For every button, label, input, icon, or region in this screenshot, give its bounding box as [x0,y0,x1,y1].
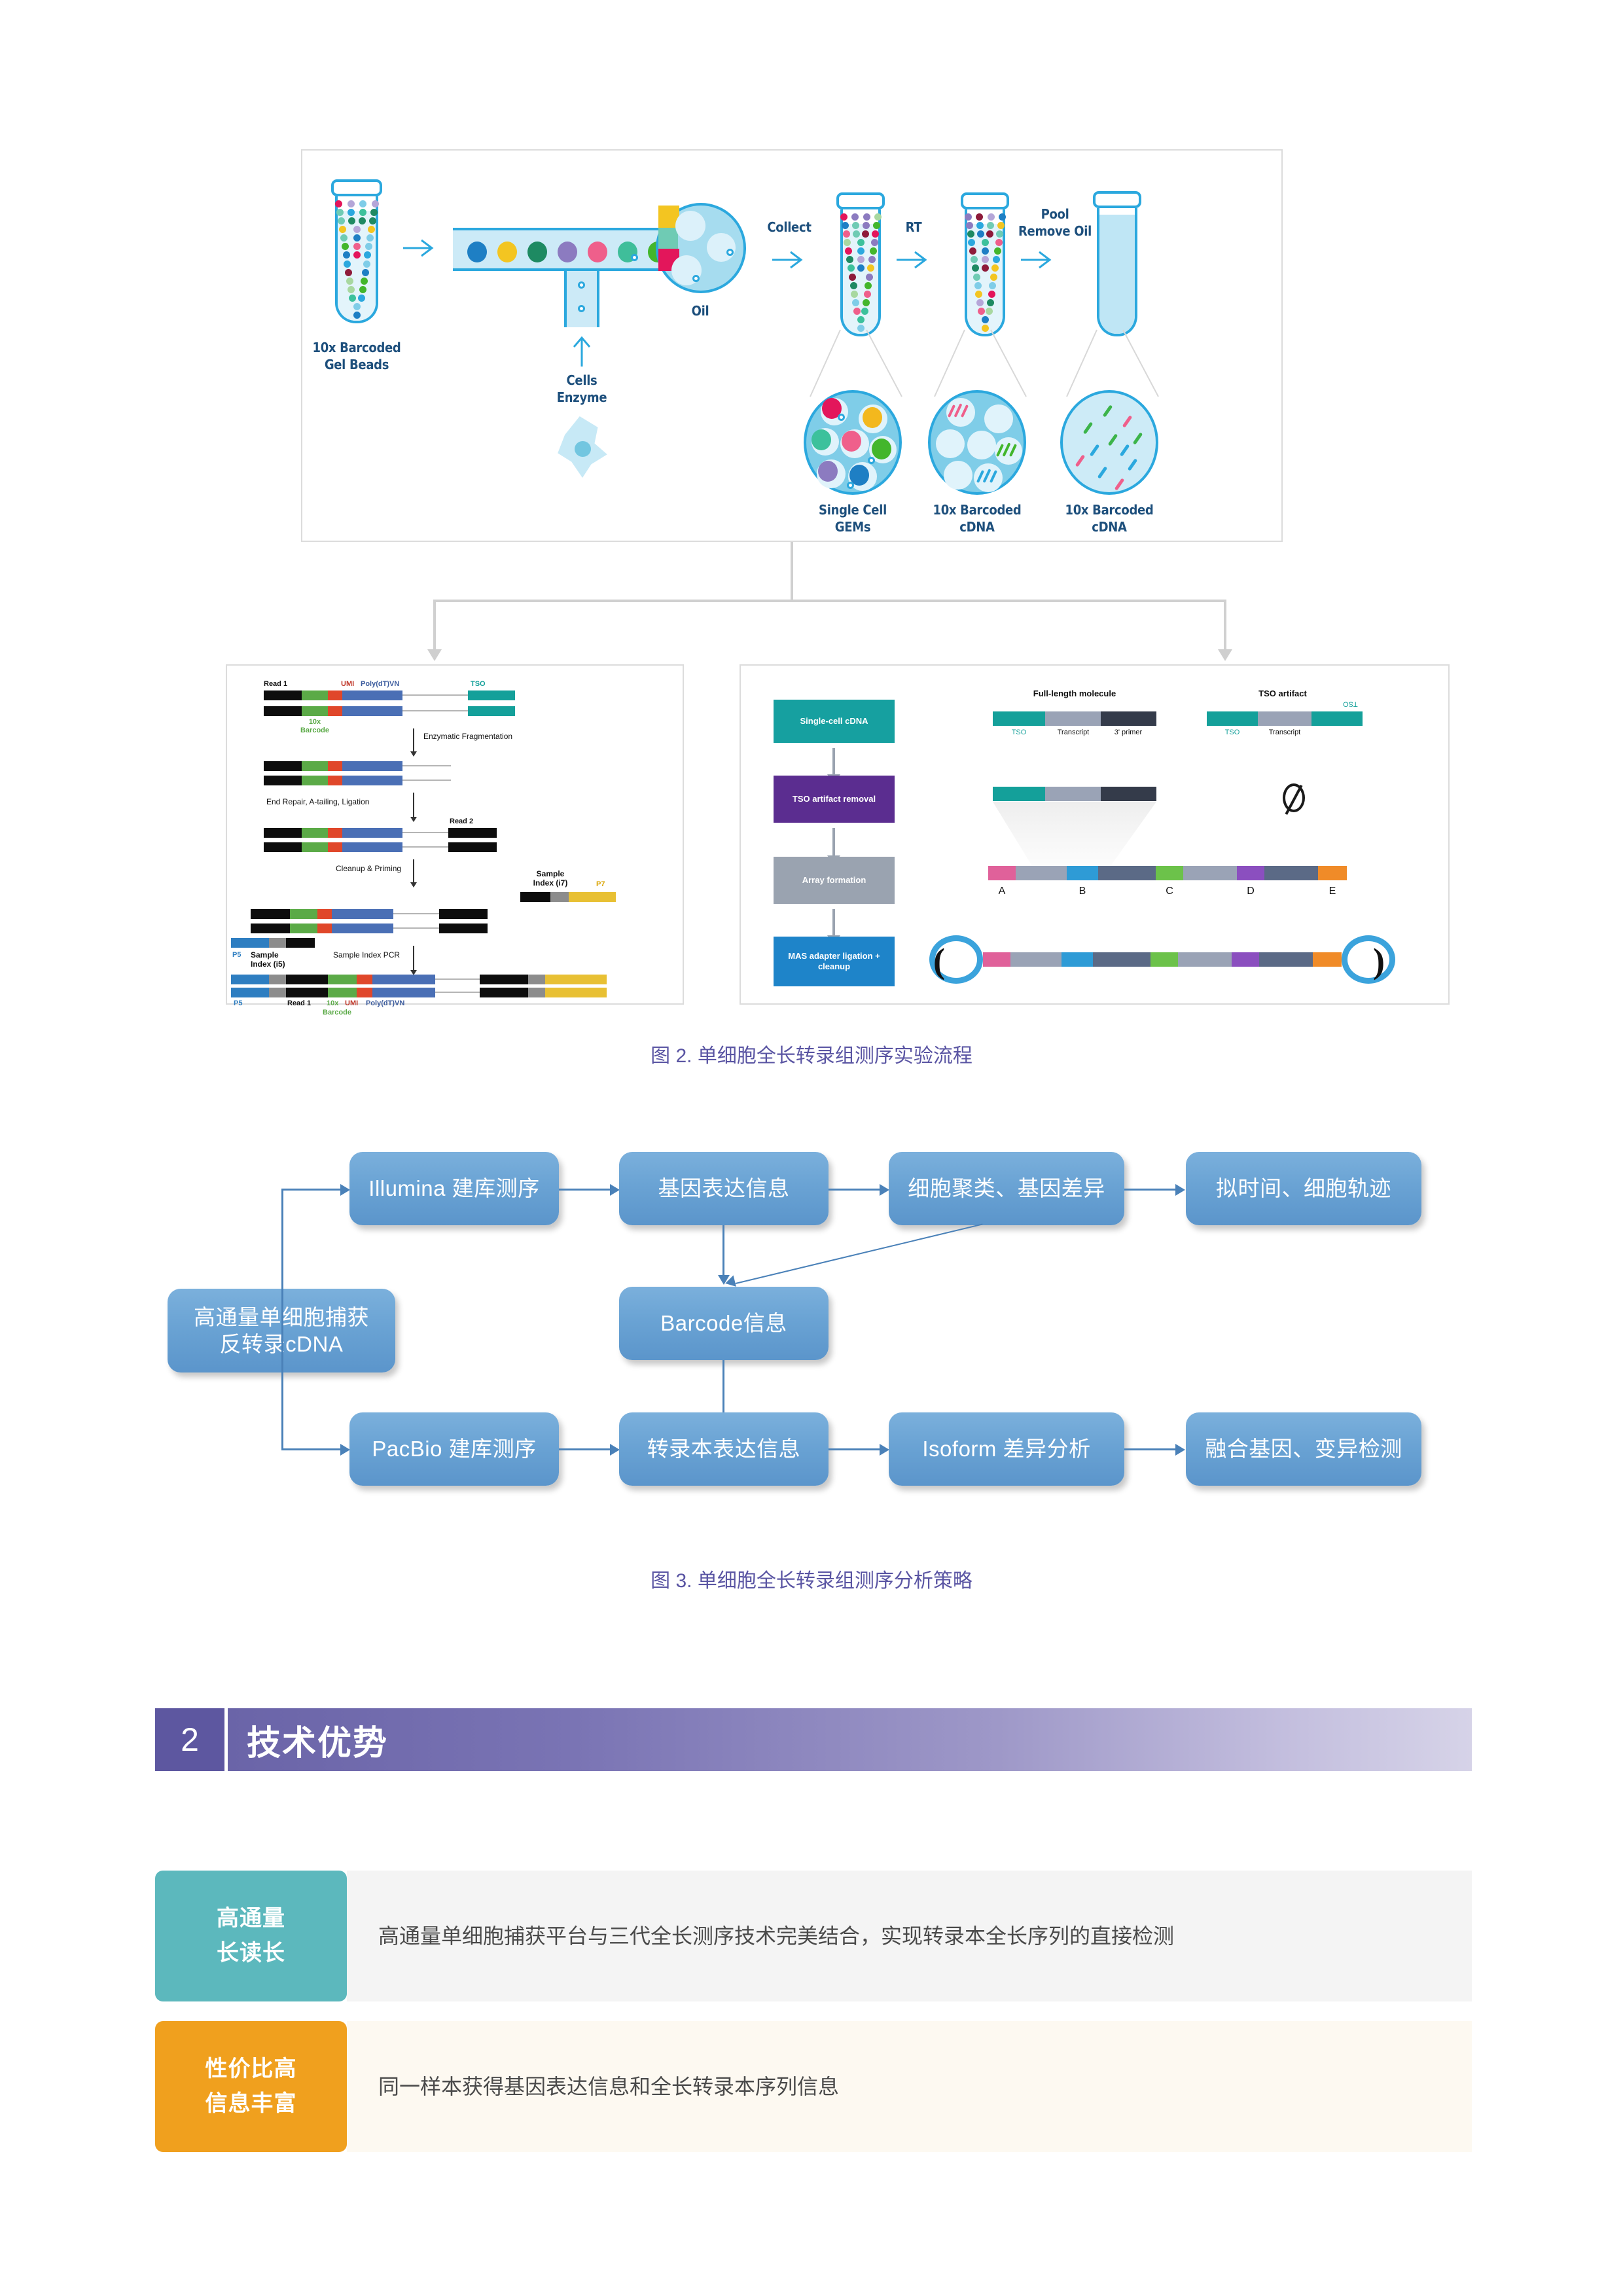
gel-bead [850,282,857,289]
seq-linker [402,832,448,833]
array-funnel [993,802,1156,866]
adapter-paren-left: ( [933,943,945,978]
gel-bead [996,230,1003,238]
barcoded-cdna-gem-circle [928,390,1026,495]
artifact-segment-tso [1207,711,1258,726]
seq-linker [393,927,439,929]
seq-segment-read2 [448,828,497,838]
gem-pocket [984,404,1013,433]
cdna-strand [1133,432,1143,444]
flow-arrow-icon [340,1444,350,1456]
gel-bead [369,217,376,224]
array-segment-b [1067,866,1098,880]
seq-segment-barcode [290,924,317,933]
seq-segment-barcode [302,828,328,838]
seq-segment-umi [317,909,332,919]
seq-linker [435,978,480,980]
flow-line-to-pacbio [281,1448,342,1450]
molecule-segment-3prime [1101,711,1156,726]
gel-bead [988,291,995,298]
connector-arrow-left-icon [427,649,442,661]
bead [558,242,577,262]
gel-bead [840,213,847,221]
gel-bead [359,200,366,207]
gel-bead [353,226,361,233]
gel-bead [853,230,860,238]
flow-line-cluster-pseudotime [1124,1189,1177,1191]
flow-box-barcode[interactable]: Barcode信息 [619,1287,829,1360]
section-header: 2 技术优势 [155,1708,1472,1771]
gel-bead [978,308,985,315]
bead [863,407,882,428]
flow-box-pseudotime[interactable]: 拟时间、细胞轨迹 [1186,1152,1421,1225]
molecule-segment-tso [993,787,1045,801]
seq-segment-p7 [545,988,607,997]
seq-segment-umi [357,975,372,984]
cell-glyph-icon [555,416,610,478]
gel-bead [987,222,994,229]
molecule-segment-transcript [1045,787,1101,801]
sample-index-i5-label: Sample Index (i5) [251,951,285,969]
bead-grid [961,209,1009,334]
gel-bead [965,213,972,221]
seq-linker [402,694,468,696]
flow-line-to-illumina [281,1189,342,1191]
step-arrow-icon [832,748,835,776]
seq-segment-read1 [251,924,290,933]
gel-bead [359,209,366,216]
tube-fill [1099,215,1135,334]
gel-bead [353,251,361,259]
oil-label: Oil [692,302,709,319]
gel-bead [844,239,851,246]
step-arrow-icon [832,909,835,937]
gel-bead [982,264,989,272]
gel-bead [865,282,872,289]
seq-segment-read1 [286,938,315,948]
gel-bead [372,200,379,207]
seq-segment-polydt [332,924,393,933]
flow-box-pacbio[interactable]: PacBio 建库测序 [349,1412,559,1486]
cdna-strand [1108,433,1118,446]
step-arrow-icon [413,946,414,971]
cdna-strand [1120,444,1130,456]
seq-segment-barcode [302,842,328,852]
seq-segment-polydt [342,842,402,852]
pooled-cdna-circle [1060,390,1158,495]
figure2-top-panel: 10x Barcoded Gel Beads [301,149,1283,542]
gel-bead [968,239,975,246]
pooled-cdna-tube [1093,191,1141,336]
seq-segment-polydt [332,909,393,919]
array-segment-d [1232,952,1259,967]
seq-segment-read1 [264,691,302,700]
gel-bead [857,256,865,263]
tube-body [1097,208,1137,336]
gel-bead [346,278,353,285]
gel-bead [986,308,993,315]
gel-bead [345,269,352,276]
p5-label-final: P5 [234,999,242,1008]
nucleus-dot-icon [838,414,845,421]
tso-label-2: TSO [1225,728,1240,737]
array-segment-c [1156,866,1183,880]
flow-arrow-icon [402,237,437,259]
gel-bead [336,209,344,216]
gel-bead [864,291,871,298]
bead [658,228,678,249]
gel-bead [857,247,865,255]
array-label-a: A [999,886,1006,897]
seq-segment-umi [317,924,332,933]
sample-index-pcr-label: Sample Index PCR [333,951,400,960]
gel-bead [863,299,870,306]
gel-bead-tube [331,179,382,323]
flow-arrow-icon [340,1184,350,1196]
gel-bead [849,274,856,281]
connector-branch-right [1224,600,1226,651]
gel-bead [353,312,361,319]
bead-grid [836,209,885,334]
three-prime-primer-label: 3' primer [1115,728,1142,737]
step-arrow-icon [413,793,414,817]
seq-segment-barcode [328,975,357,984]
seq-segment-i5 [269,988,286,997]
flow-line-cluster-barcode [736,1223,983,1284]
seq-segment-read1 [264,828,302,838]
feature-tag-line1: 高通量 [217,1901,285,1936]
polydtvn-label-final: Poly(dT)VN [366,999,404,1008]
barcode-label-final: Barcode [323,1009,351,1017]
document-page: 10x Barcoded Gel Beads [0,0,1623,2296]
enzymatic-fragmentation-label: Enzymatic Fragmentation [423,732,512,742]
cdna-strand [1103,404,1113,417]
feature-card-value: 性价比高 信息丰富 同一样本获得基因表达信息和全长转录本序列信息 [155,2021,1472,2152]
gel-bead [991,264,999,272]
nucleus-dot-icon [631,254,638,261]
bead-grid [331,196,382,321]
read1-label: Read 1 [264,680,287,689]
gel-bead [863,213,870,221]
seq-segment-polydt [342,761,402,771]
array-label-e: E [1329,886,1336,897]
gel-bead [358,295,365,302]
flow-arrow-icon [880,1444,889,1456]
gel-bead [868,256,876,263]
seq-segment-umi [328,761,342,771]
seq-segment-umi [328,842,342,852]
transcript-label: Transcript [1058,728,1090,737]
gel-bead [993,256,1000,263]
array-segment-e [1313,952,1342,967]
gel-bead [338,217,345,224]
array-segment-a [983,952,1010,967]
gel-bead [339,226,346,233]
polydtvn-label: Poly(dT)VN [361,680,399,689]
seq-segment-read1 [264,776,302,785]
connector-stem [791,542,793,601]
gel-bead [363,260,370,268]
cdna-strand [1083,422,1094,434]
seq-segment-umi [328,776,342,785]
bead [497,242,517,262]
seq-segment-read2 [480,975,528,984]
bead [818,461,838,482]
gem-pocket [675,211,705,241]
cdna-strand [1075,454,1086,467]
seq-linker [393,913,439,914]
seq-segment-barcode [302,706,328,716]
callout-lines [931,327,1042,399]
array-segment-d [1237,866,1264,880]
read1-label-final: Read 1 [287,999,311,1008]
gel-bead [870,247,877,255]
gel-bead [987,299,994,306]
gel-bead [843,230,850,238]
section-bar: 技术优势 [224,1708,1472,1771]
seq-segment-barcode [302,761,328,771]
seq-segment-read1 [264,706,302,716]
gel-bead [982,247,989,255]
feature-tag-line1: 性价比高 [205,2052,297,2087]
gel-bead [872,230,879,238]
tenx-label-final: 10x [327,999,338,1008]
flow-box-isoform[interactable]: Isoform 差异分析 [889,1412,1124,1486]
seq-segment-read1 [286,988,328,997]
gel-bead [362,269,369,276]
gel-bead [349,295,356,302]
array-segment-a [988,866,1016,880]
gem-pocket [936,429,965,458]
seq-linker [402,846,448,848]
seq-segment-p5 [231,938,269,948]
seq-segment-barcode [302,776,328,785]
flow-box-gene-expression[interactable]: 基因表达信息 [619,1152,829,1225]
section-title: 技术优势 [247,1715,388,1765]
bead [872,439,891,459]
seq-segment-polydt [342,706,402,716]
gel-bead [353,234,361,242]
gel-bead [344,260,351,268]
nucleus-dot-icon [847,482,854,489]
figure2-mas-seq-panel: Single-cell cDNA TSO artifact removal Ar… [740,664,1450,1005]
gel-bead [364,251,371,259]
array-spacer [1093,952,1150,967]
feature-text: 同一样本获得基因表达信息和全长转录本序列信息 [347,2021,1472,2152]
gel-bead [866,274,873,281]
callout-lines [1063,327,1174,399]
seq-segment-i7 [528,988,545,997]
feature-text: 高通量单细胞捕获平台与三代全长测序技术完美结合，实现转录本全长序列的直接检测 [347,1871,1472,2001]
array-spacer [1010,952,1061,967]
seq-segment-tso [468,691,515,700]
tso-label: TSO [471,680,486,689]
section-number: 2 [155,1708,224,1771]
seq-segment-barcode [328,988,357,997]
gel-bead [353,303,361,310]
seq-segment-umi [328,706,342,716]
gel-bead [370,209,378,216]
gel-bead [982,256,989,263]
artifact-segment-transcript [1258,711,1311,726]
flow-line-source-bus [281,1189,283,1450]
gel-bead [851,213,859,221]
gel-bead [974,282,982,289]
flow-box-fusion[interactable]: 融合基因、变异检测 [1186,1412,1421,1486]
gel-bead [990,274,997,281]
figure3-caption: 图 3. 单细胞全长转录组测序分析策略 [0,1564,1623,1593]
gel-bead [340,234,348,242]
array-segment-e [1318,866,1347,880]
array-label-c: C [1166,886,1173,897]
transcript-label-2: Transcript [1269,728,1301,737]
gel-bead [368,226,375,233]
flow-box-illumina[interactable]: Illumina 建库测序 [349,1152,559,1225]
gel-bead [982,239,989,246]
gel-bead [995,239,1003,246]
gel-bead [335,200,342,207]
gel-bead [976,222,984,229]
artifact-segment-tso-flipped [1311,711,1363,726]
gel-bead [348,209,355,216]
cleanup-priming-label: Cleanup & Priming [336,865,401,874]
connector-crossbar [433,600,1226,602]
array-spacer [1098,866,1156,880]
nucleus-dot-icon [692,275,700,282]
seq-segment-tso [468,706,515,716]
adapter-paren-right: ) [1373,943,1385,978]
seq-linker [402,765,451,766]
cdna-strand [1097,466,1108,478]
connector-arrow-right-icon [1218,649,1232,661]
flow-box-clustering[interactable]: 细胞聚类、基因差异 [889,1152,1124,1225]
tso-artifact-label: TSO artifact [1258,689,1307,699]
collect-label: Collect [767,219,811,236]
gem-tube [836,192,885,336]
gel-bead [857,316,865,323]
tube-cap [1093,191,1141,208]
feature-tag-line2: 长读长 [217,1936,285,1971]
tube-cap [836,192,885,209]
seq-segment-read1 [264,761,302,771]
flow-arrow-icon [880,1184,889,1196]
flow-arrow-icon [610,1184,620,1196]
gel-bead [851,291,858,298]
molecule-segment-tso [993,711,1045,726]
flow-box-transcript-expression[interactable]: 转录本表达信息 [619,1412,829,1486]
gel-bead [348,286,355,293]
umi-label-final: UMI [345,999,358,1008]
mas-adapter-loop-right [1342,935,1395,984]
gel-bead [976,299,984,306]
tso-flipped-label: TSO [1343,700,1358,708]
gel-bead [994,247,1001,255]
p5-label: P5 [232,951,241,960]
step-array-formation: Array formation [774,857,895,904]
connector-branch-left [433,600,436,651]
seq-segment-p7 [545,975,607,984]
flow-arrow-icon [771,249,806,271]
umi-label: UMI [341,680,354,689]
step-single-cell-cdna: Single-cell cDNA [774,700,895,743]
seq-segment-i7 [528,975,545,984]
feature-tag-line2: 信息丰富 [205,2087,297,2121]
seq-segment-polydt [342,828,402,838]
flow-arrow-icon [1020,249,1055,271]
seq-segment-polydt [372,988,435,997]
seq-segment-umi [357,988,372,997]
seq-segment-p5 [231,975,269,984]
gel-bead [353,243,361,250]
gel-bead [971,256,978,263]
flow-arrow-icon [610,1444,620,1456]
gel-bead [862,230,869,238]
seq-linker [402,780,451,781]
feature-tag: 性价比高 信息丰富 [155,2021,347,2152]
flow-arrow-icon [1175,1444,1185,1456]
gel-bead [989,282,996,289]
seq-segment-read1 [251,909,290,919]
seq-segment-polydt [372,975,435,984]
seq-segment-read2 [520,892,550,902]
bead [588,242,607,262]
array-label-b: B [1079,886,1086,897]
seq-segment-polydt [342,776,402,785]
figure2-library-prep-panel: Read 1 UMI Poly(dT)VN TSO 10x Barcode En… [226,664,684,1005]
gel-bead [359,286,366,293]
seq-segment-barcode [290,909,317,919]
gem-pocket [967,431,996,459]
flow-arrow-icon [1175,1184,1185,1196]
gel-bead [343,251,350,259]
full-length-molecule-label: Full-length molecule [1033,689,1116,699]
step-tso-artifact-removal: TSO artifact removal [774,776,895,823]
gel-bead [846,256,853,263]
gel-bead [852,222,859,229]
array-spacer [1264,866,1318,880]
cells-enzyme-label: Cells Enzyme [557,372,607,406]
step-arrow-icon [413,728,414,752]
seq-segment-polydt [342,691,402,700]
cdna-strand [1090,444,1100,456]
nucleus-dot-icon [578,305,585,312]
array-spacer [1178,952,1232,967]
molecule-segment-3prime [1101,787,1156,801]
gel-bead [867,264,874,272]
tso-label: TSO [1012,728,1027,737]
seq-segment-barcode [302,691,328,700]
seq-segment-read1 [264,842,302,852]
gel-bead [366,234,374,242]
step-arrow-icon [832,828,835,857]
gel-bead [874,213,882,221]
gel-beads-label: 10x Barcoded Gel Beads [312,339,401,373]
figure2-caption: 图 2. 单细胞全长转录组测序实验流程 [0,1039,1623,1068]
gel-bead [842,222,849,229]
seq-segment-read2 [439,909,488,919]
flow-line-pacbio-transcript [559,1448,611,1450]
tube-cap [331,179,382,196]
gel-bead [857,239,865,246]
array-label-d: D [1247,886,1255,897]
nucleus-dot-icon [868,457,875,464]
bead [527,242,547,262]
removed-icon [1283,783,1305,812]
gel-bead [342,243,349,250]
seq-segment-i5 [269,975,286,984]
gel-bead [973,274,980,281]
seq-segment-read2 [480,988,528,997]
